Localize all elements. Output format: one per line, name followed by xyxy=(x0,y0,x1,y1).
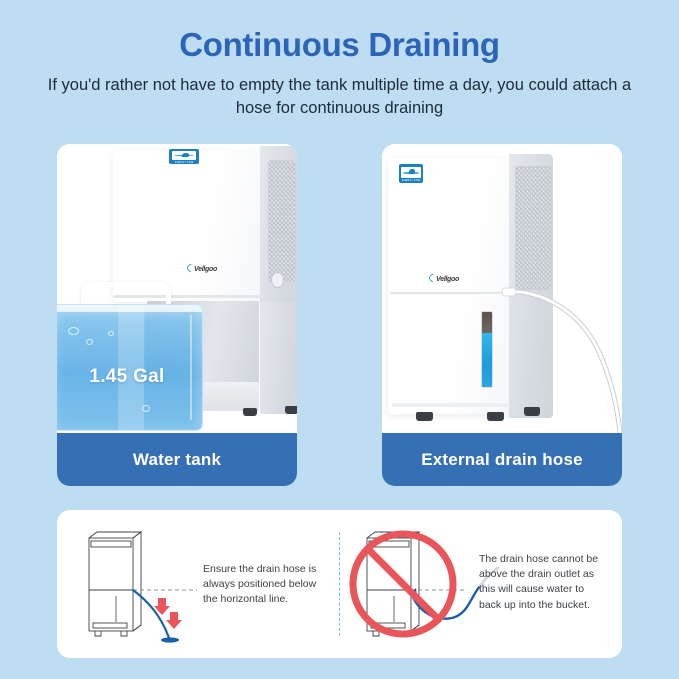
card-caption-water-tank: Water tank xyxy=(57,433,297,486)
energy-star-badge: ENERGY STAR xyxy=(169,149,199,164)
water-bubble-icon xyxy=(86,339,93,345)
instruction-text-prohibited: The drain hose cannot be above the drain… xyxy=(479,552,609,613)
prohibition-sign-icon xyxy=(353,534,453,634)
energy-star-glyph xyxy=(172,151,196,159)
card-drain-hose: ENERGY STAR Vellgoo External drain hose xyxy=(382,144,622,486)
card-caption-drain-hose: External drain hose xyxy=(382,433,622,486)
instruction-correct: Ensure the drain hose is always position… xyxy=(57,510,339,658)
instruction-text-correct: Ensure the drain hose is always position… xyxy=(203,562,331,608)
external-drain-hose xyxy=(382,144,622,433)
brand-name: Vellgoo xyxy=(194,266,217,273)
water-bubble-icon xyxy=(108,331,114,336)
unit-caster xyxy=(285,406,297,414)
unit-front-panel xyxy=(113,150,263,302)
water-tank-photo: ENERGY STAR Vellgoo xyxy=(57,144,297,433)
page-title: Continuous Draining xyxy=(0,26,679,64)
unit-grille xyxy=(268,160,296,282)
page-subtitle: If you'd rather not have to empty the ta… xyxy=(0,74,679,121)
drain-port-icon xyxy=(271,272,284,288)
card-water-tank: ENERGY STAR Vellgoo xyxy=(57,144,297,486)
instruction-prohibited: The drain hose cannot be above the drain… xyxy=(340,510,622,658)
unit-caster xyxy=(243,408,257,416)
water-tank: 1.45 Gal xyxy=(57,304,203,431)
drain-hose-photo: ENERGY STAR Vellgoo xyxy=(382,144,622,433)
water-bubble-icon xyxy=(142,405,150,412)
tank-capacity-label: 1.45 Gal xyxy=(57,366,202,388)
instructions-panel: Ensure the drain hose is always position… xyxy=(57,510,622,658)
energy-star-label: ENERGY STAR xyxy=(175,161,194,164)
water-bubble-icon xyxy=(68,327,79,335)
page-header: Continuous Draining If you'd rather not … xyxy=(0,0,679,121)
unit-side-lower xyxy=(260,302,297,414)
brand-logo-left: Vellgoo xyxy=(187,264,217,273)
